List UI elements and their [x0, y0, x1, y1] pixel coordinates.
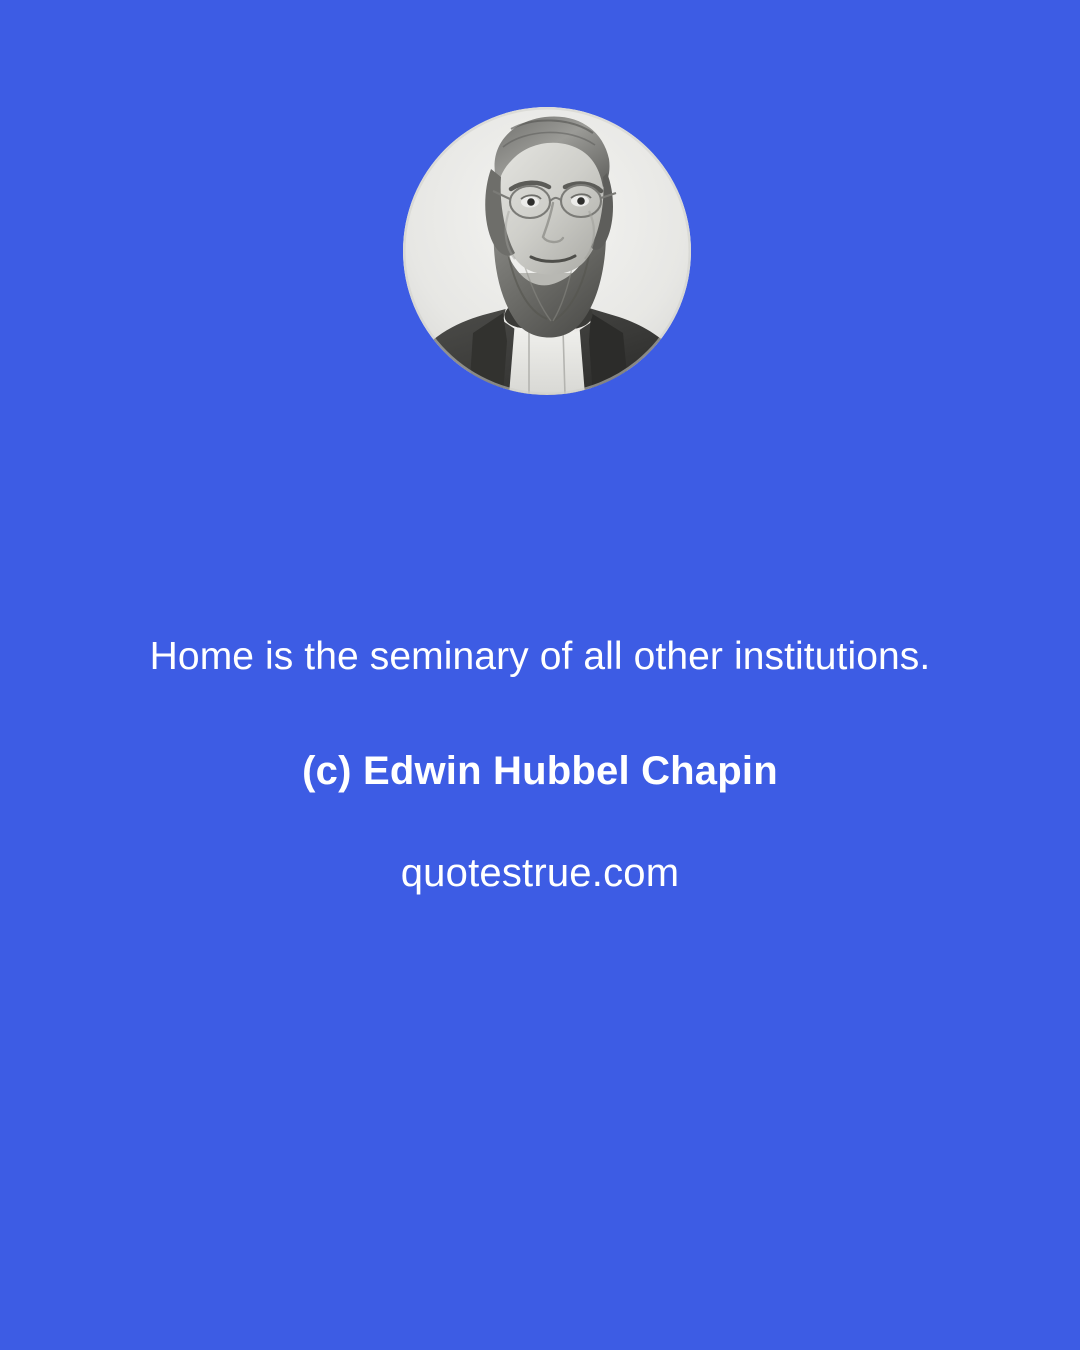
author-attribution: (c) Edwin Hubbel Chapin [90, 690, 990, 795]
eye-left-pupil [527, 198, 535, 206]
quote-card: Home is the seminary of all other instit… [0, 0, 1080, 1350]
quote-text: Home is the seminary of all other instit… [130, 600, 950, 690]
author-portrait-photo [403, 107, 691, 395]
eye-right-pupil [577, 197, 585, 205]
portrait-illustration [403, 107, 691, 395]
quote-text-block: Home is the seminary of all other instit… [0, 600, 1080, 897]
source-website: quotestrue.com [90, 795, 990, 897]
